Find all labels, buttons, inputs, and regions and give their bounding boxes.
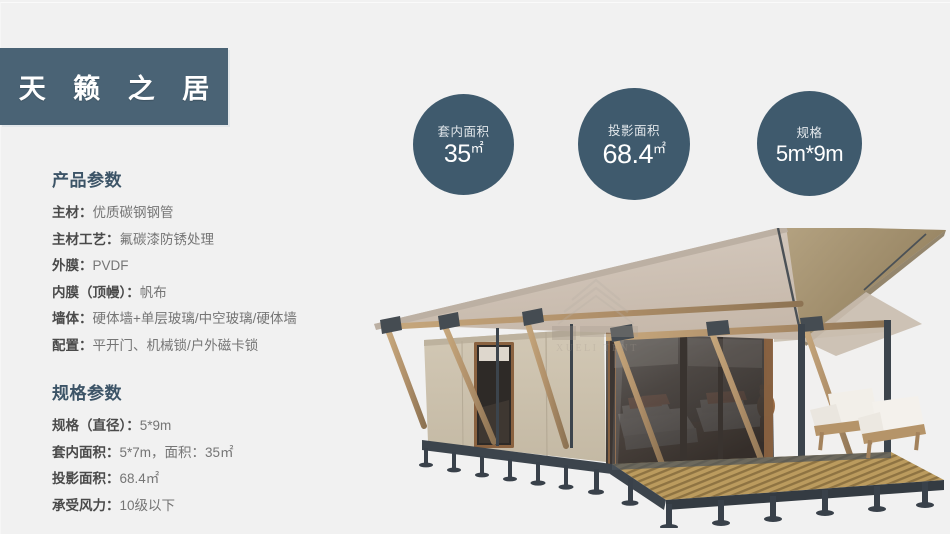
spec-group-product: 产品参数 主材：优质碳钢钢管 主材工艺：氟碳漆防锈处理 外膜：PVDF 内膜（顶… [52, 166, 382, 359]
badge-dimensions: 规格 5m*9m [757, 91, 862, 196]
spec-row: 主材工艺：氟碳漆防锈处理 [52, 227, 382, 254]
spec-row: 套内面积：5*7m，面积：35㎡ [52, 440, 382, 467]
badge-label: 套内面积 [437, 121, 489, 140]
group-title-product: 产品参数 [52, 166, 382, 191]
spec-row: 投影面积：68.4㎡ [52, 466, 382, 493]
spec-row: 内膜（顶幔）：帆布 [52, 280, 382, 307]
badge-value: 35㎡ [444, 141, 483, 168]
spec-value: 帆布 [140, 285, 167, 300]
page-title: 天 籁 之 居 [9, 67, 220, 106]
spec-key: 规格（直径）： [52, 418, 140, 433]
spec-row: 墙体：硬体墙+单层玻璃/中空玻璃/硬体墙 [52, 306, 382, 333]
spec-row: 外膜：PVDF [52, 253, 382, 280]
spec-value: 氟碳漆防锈处理 [120, 232, 215, 247]
spec-value: 5*7m，面积：35㎡ [120, 445, 234, 460]
wall-window [474, 342, 514, 448]
spec-key: 内膜（顶幔）： [52, 285, 140, 300]
product-spec-page: 天 籁 之 居 产品参数 主材：优质碳钢钢管 主材工艺：氟碳漆防锈处理 外膜：P… [0, 0, 950, 534]
spec-value: 68.4㎡ [120, 471, 160, 486]
spec-key: 投影面积： [52, 471, 120, 486]
badge-value: 5m*9m [776, 142, 843, 165]
spec-key: 配置： [52, 338, 93, 353]
badge-label: 规格 [796, 122, 822, 141]
spec-row: 承受风力：10级以下 [52, 493, 382, 520]
spec-key: 主材工艺： [52, 232, 120, 247]
badge-value: 68.4㎡ [602, 140, 665, 169]
product-render-3d: XUELI TENT [366, 228, 950, 528]
badge-projected-area: 投影面积 68.4㎡ [578, 88, 690, 200]
spec-value: 10级以下 [120, 498, 176, 513]
spec-row: 规格（直径）：5*9m [52, 413, 382, 440]
badge-label: 投影面积 [608, 120, 660, 139]
spec-group-dimensions: 规格参数 规格（直径）：5*9m 套内面积：5*7m，面积：35㎡ 投影面积：6… [52, 379, 382, 519]
tent-illustration: XUELI TENT [366, 228, 950, 528]
spec-key: 套内面积： [52, 445, 120, 460]
spec-key: 承受风力： [52, 498, 120, 513]
spec-key: 墙体： [52, 311, 93, 326]
title-banner: 天 籁 之 居 [0, 48, 228, 125]
group-title-dimensions: 规格参数 [52, 379, 382, 404]
tent-front-glazing [606, 328, 774, 468]
spec-value: PVDF [93, 258, 129, 273]
spec-value: 5*9m [140, 418, 172, 433]
spec-value: 硬体墙+单层玻璃/中空玻璃/硬体墙 [93, 311, 297, 326]
spec-key: 主材： [52, 205, 93, 220]
spec-panel: 产品参数 主材：优质碳钢钢管 主材工艺：氟碳漆防锈处理 外膜：PVDF 内膜（顶… [52, 166, 382, 519]
spec-key: 外膜： [52, 258, 93, 273]
spec-row: 配置：平开门、机械锁/户外磁卡锁 [52, 333, 382, 360]
spec-row: 主材：优质碳钢钢管 [52, 200, 382, 227]
spec-value: 优质碳钢钢管 [93, 205, 174, 220]
spec-value: 平开门、机械锁/户外磁卡锁 [93, 338, 259, 353]
badge-indoor-area: 套内面积 35㎡ [413, 94, 514, 195]
